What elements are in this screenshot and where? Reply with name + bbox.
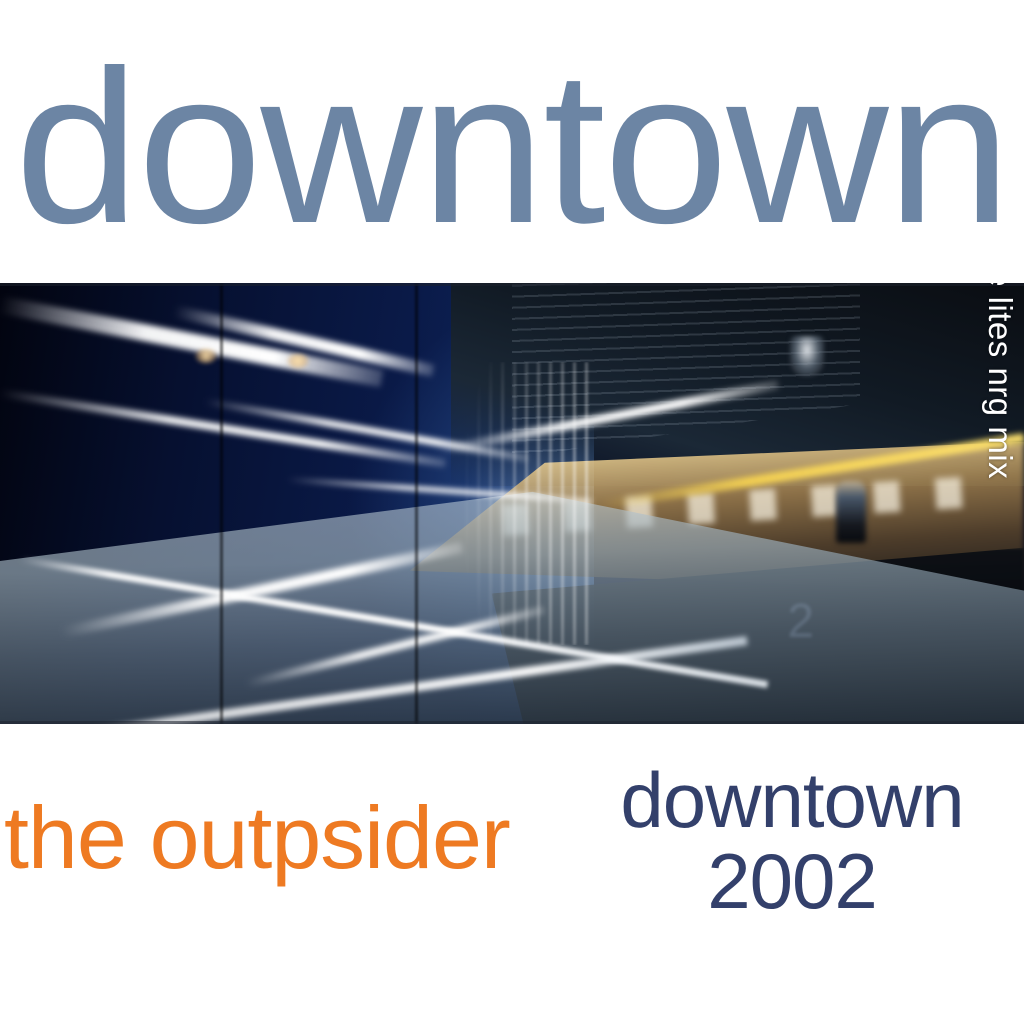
release-title-block: downtown 2002 xyxy=(566,760,1018,922)
wall-seam xyxy=(220,283,223,724)
subway-platform-photo: 2 xyxy=(0,283,1024,724)
cover-photo-band: 2 down the lites nrg mix xyxy=(0,283,1024,724)
hanging-signal-lamp xyxy=(790,336,824,376)
artist-name: the outpsider xyxy=(4,790,510,886)
ceiling-lamp xyxy=(287,354,309,368)
album-cover: downtown xyxy=(0,0,1024,1024)
release-year: 2002 xyxy=(566,840,1018,922)
photo-bottom-edge xyxy=(0,721,1024,724)
photo-top-edge xyxy=(0,283,1024,286)
mix-label-vertical: down the lites nrg mix xyxy=(978,283,1022,579)
ceiling-lamp xyxy=(195,349,217,363)
album-title-top: downtown xyxy=(0,38,1024,258)
train-graffiti-mark: 2 xyxy=(787,594,814,649)
blurred-person-figure xyxy=(836,481,866,543)
wall-seam xyxy=(415,283,418,724)
converging-light-rays xyxy=(369,362,594,644)
release-title: downtown xyxy=(566,760,1018,840)
